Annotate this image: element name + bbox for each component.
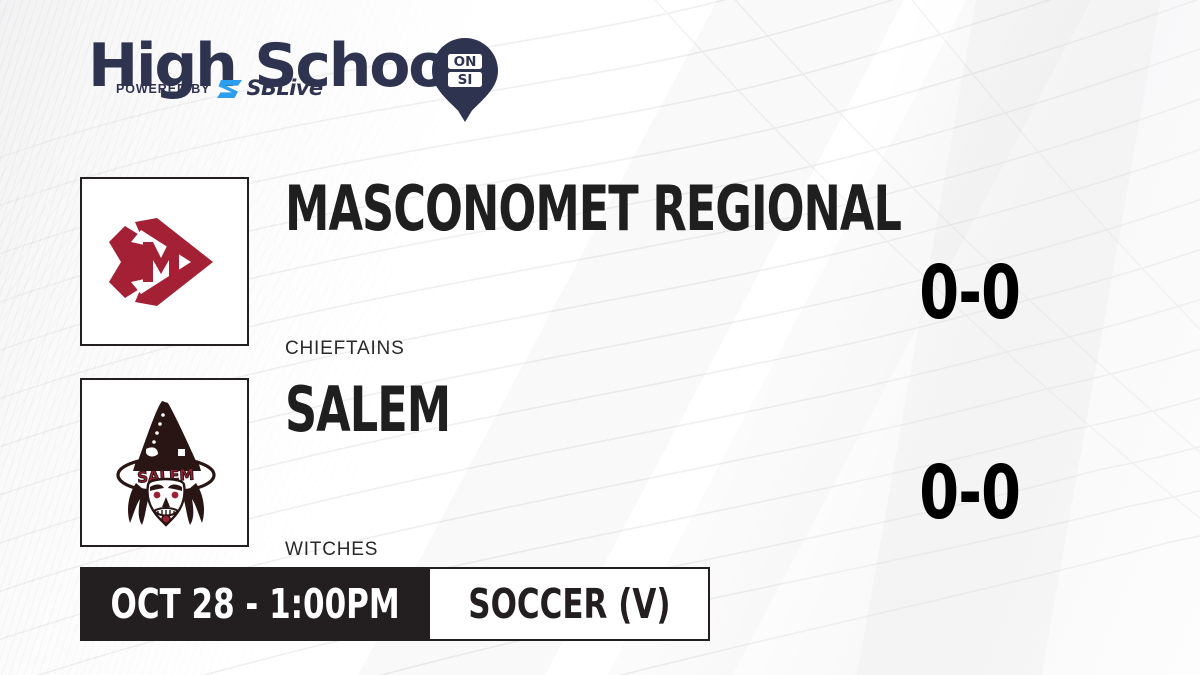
home-team-mascot: WITCHES xyxy=(285,539,378,561)
away-team-logo-box xyxy=(80,177,249,346)
powered-by-block: POWERED BY SBLive xyxy=(116,78,322,99)
away-team-mascot: CHIEFTAINS xyxy=(285,338,405,360)
sblive-wordmark: SBLive xyxy=(246,78,322,99)
home-team-score: 0-0 xyxy=(860,456,1080,530)
svg-text:ON: ON xyxy=(454,54,477,70)
powered-by-label: POWERED BY xyxy=(116,82,210,96)
away-team-score: 0-0 xyxy=(860,256,1080,330)
sblive-logo: SBLive xyxy=(217,78,322,99)
game-datetime-badge: OCT 28 - 1:00PM xyxy=(80,567,430,641)
sblive-bolt-icon xyxy=(217,79,243,99)
home-team-name: SALEM xyxy=(285,379,450,441)
salem-witch-logo-icon: SALEM xyxy=(100,399,230,527)
game-sport-badge: SOCCER (V) xyxy=(430,567,710,641)
home-team-logo-box: SALEM xyxy=(80,378,249,547)
svg-text:SI: SI xyxy=(458,72,473,88)
scoreboard-graphic: High School ON SI POWERED BY SBLive M xyxy=(0,0,1200,675)
on-si-pin-icon: ON SI xyxy=(432,38,498,122)
away-team-name: MASCONOMET REGIONAL xyxy=(285,178,901,240)
masconomet-arrowhead-m-logo-icon xyxy=(95,212,235,312)
